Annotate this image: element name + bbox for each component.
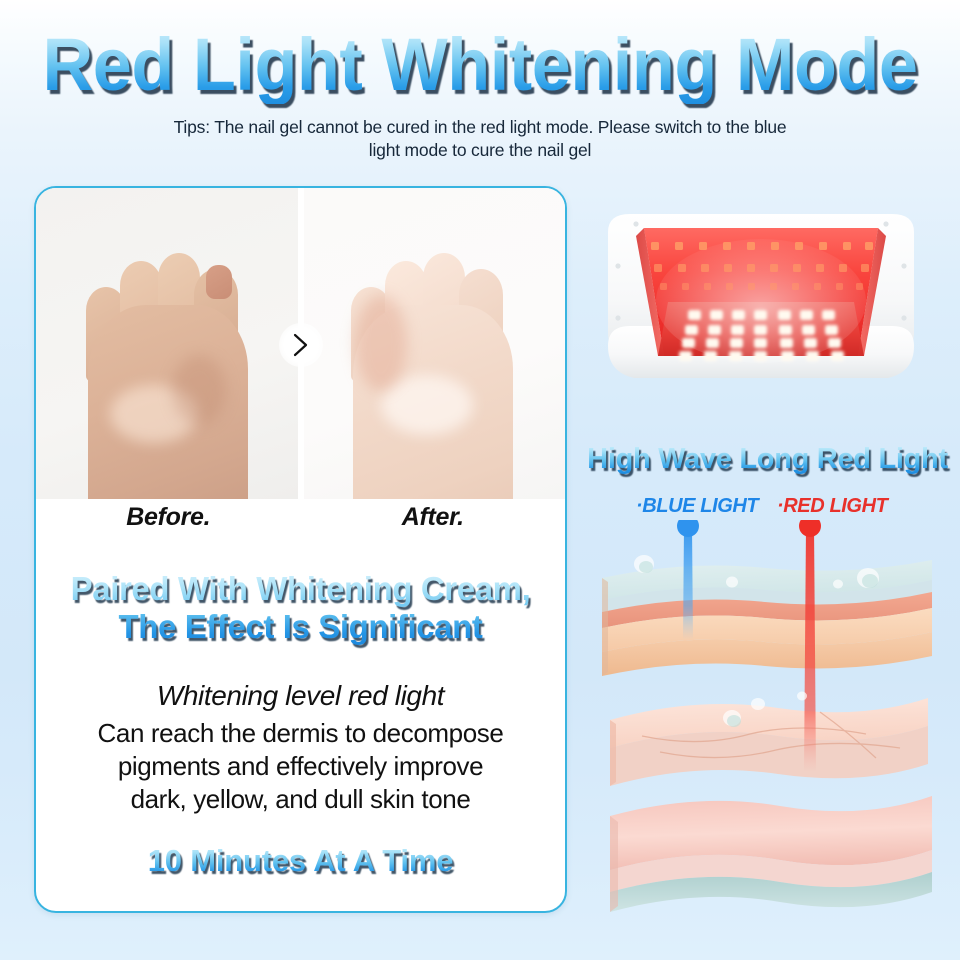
hand-illustration-after — [345, 235, 521, 499]
hand-illustration-before — [80, 235, 256, 499]
red-light-legend-label: ·RED LIGHT — [777, 495, 887, 518]
tips-text: Tips: The nail gel cannot be cured in th… — [160, 116, 800, 162]
card-footline: 10 Minutes At A Time — [36, 843, 565, 879]
lamp-caption: High Wave Long Red Light — [575, 443, 960, 476]
photo-labels: Before. After. — [36, 499, 565, 532]
before-after-comparison — [36, 188, 565, 499]
after-photo — [301, 188, 566, 499]
blue-light-legend-label: ·BLUE LIGHT — [636, 495, 758, 518]
skin-layers-diagram — [580, 520, 960, 920]
highlight — [381, 375, 473, 435]
shadow — [172, 355, 226, 425]
card-headline: Paired With Whitening Cream, The Effect … — [36, 570, 565, 647]
body-lead: Whitening level red light — [36, 678, 565, 714]
page-title: Red Light Whitening Mode — [24, 26, 936, 104]
after-label: After. — [301, 499, 566, 532]
red-light-nail-lamp — [596, 206, 926, 421]
headline-line-1: Paired With Whitening Cream, — [36, 570, 565, 608]
poster-canvas: Red Light Whitening Mode Tips: The nail … — [0, 0, 960, 960]
thumbnail — [206, 265, 232, 299]
card-body: Whitening level red light Can reach the … — [36, 678, 565, 816]
chevron-right-icon — [279, 323, 323, 367]
body-line-2: pigments and effectively improve — [36, 750, 565, 783]
shadow — [355, 295, 407, 391]
whitening-info-card: Before. After. Paired With Whitening Cre… — [34, 186, 567, 913]
body-line-3: dark, yellow, and dull skin tone — [36, 783, 565, 816]
body-text: Can reach the dermis to decompose pigmen… — [36, 717, 565, 815]
before-photo — [36, 188, 301, 499]
headline-line-2: The Effect Is Significant — [36, 608, 565, 646]
body-line-1: Can reach the dermis to decompose — [36, 717, 565, 750]
before-label: Before. — [36, 499, 301, 532]
thumbnail — [363, 257, 389, 291]
